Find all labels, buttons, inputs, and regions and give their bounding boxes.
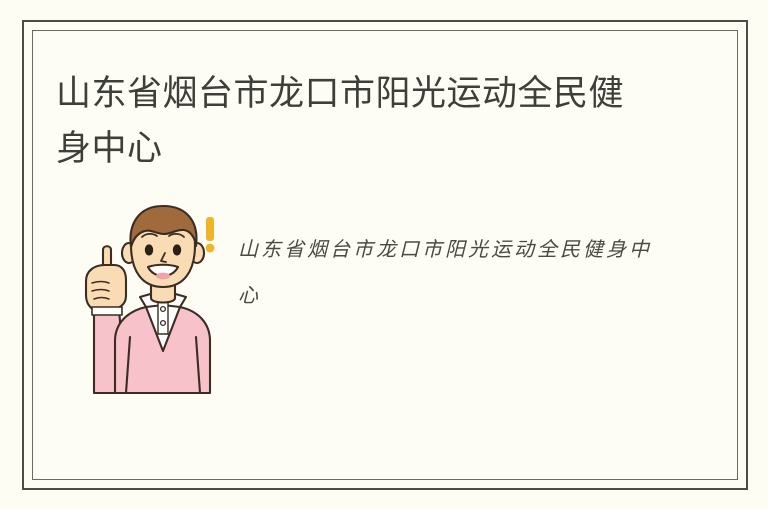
exclamation-mark-icon	[206, 217, 215, 252]
fist	[86, 265, 126, 310]
poster-frame-outer: 山东省烟台市龙口市阳光运动全民健身中心	[22, 20, 748, 490]
eye-right	[173, 244, 181, 255]
illustration-man-pointing-up	[68, 201, 228, 396]
tongue	[156, 273, 170, 280]
poster-content: 山东省烟台市龙口市阳光运动全民健身中心	[33, 31, 737, 479]
eye-left	[145, 244, 153, 255]
cuff	[92, 307, 122, 315]
handwritten-caption: 山东省烟台市龙口市阳光运动全民健身中心	[238, 226, 668, 318]
shirt-button-2	[161, 321, 166, 326]
man-pointing-up-svg	[68, 201, 228, 396]
poster-canvas: 山东省烟台市龙口市阳光运动全民健身中心	[0, 0, 768, 510]
page-title: 山东省烟台市龙口市阳光运动全民健身中心	[56, 67, 656, 177]
shirt-button-1	[161, 307, 166, 312]
poster-frame-inner: 山东省烟台市龙口市阳光运动全民健身中心	[32, 30, 738, 480]
